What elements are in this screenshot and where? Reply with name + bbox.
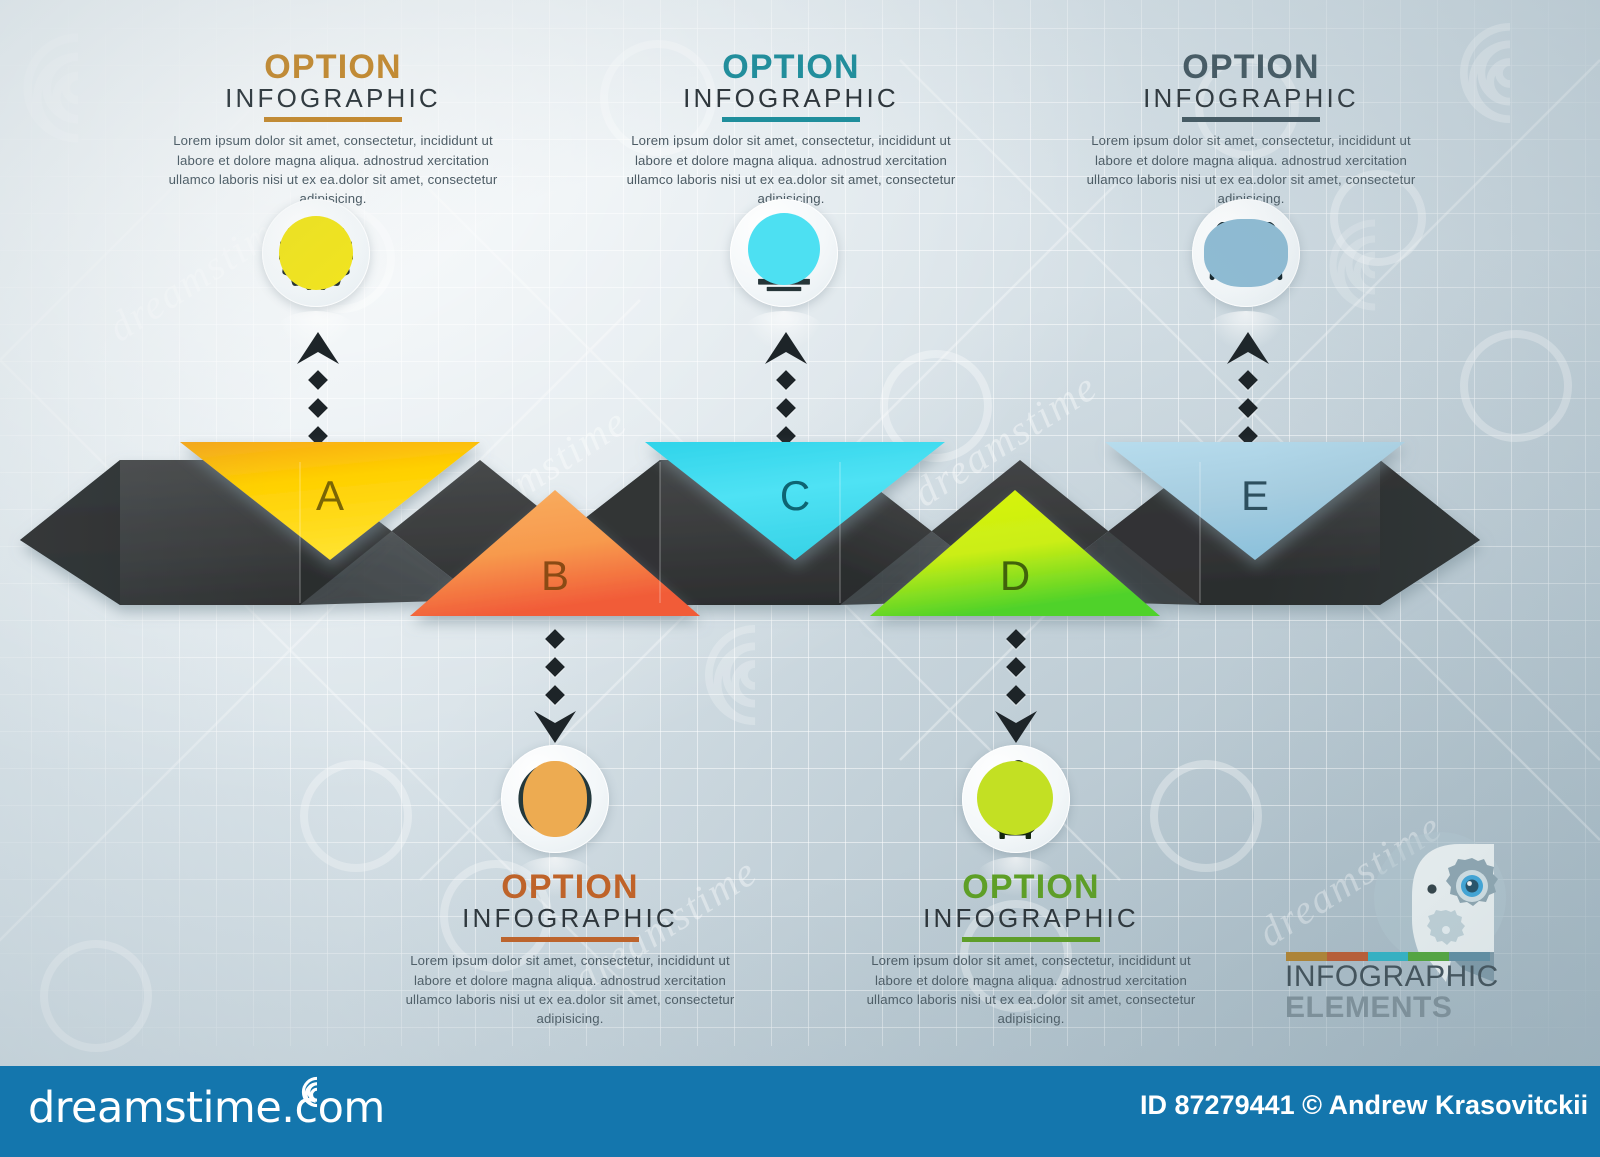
- option-title-b: OPTION: [405, 870, 735, 905]
- connector-dot: [1006, 629, 1026, 649]
- option-text-c: OPTION INFOGRAPHIC Lorem ipsum dolor sit…: [626, 50, 956, 209]
- icon-badge-a[interactable]: [262, 199, 370, 307]
- connector-b: [533, 625, 577, 745]
- arrow-up-icon: [764, 330, 808, 366]
- connector-dot: [776, 370, 796, 390]
- brand-logo: INFOGRAPHIC ELEMENTS: [1278, 826, 1510, 1026]
- image-credit: ID 87279441 © Andrew Krasovitckii: [1140, 1090, 1588, 1121]
- option-body-b: Lorem ipsum dolor sit amet, consectetur,…: [405, 951, 735, 1029]
- connector-d: [994, 625, 1038, 745]
- option-body-e: Lorem ipsum dolor sit amet, consectetur,…: [1086, 131, 1416, 209]
- arrow-down-icon: [533, 709, 577, 745]
- option-text-e: OPTION INFOGRAPHIC Lorem ipsum dolor sit…: [1086, 50, 1416, 209]
- option-text-d: OPTION INFOGRAPHIC Lorem ipsum dolor sit…: [866, 870, 1196, 1029]
- option-title-c: OPTION: [626, 50, 956, 85]
- option-body-a: Lorem ipsum dolor sit amet, consectetur,…: [168, 131, 498, 209]
- option-rule-e: [1182, 117, 1320, 122]
- ribbon-letter-a: A: [316, 472, 344, 519]
- ribbon-letter-b: B: [541, 552, 569, 599]
- option-body-c: Lorem ipsum dolor sit amet, consectetur,…: [626, 131, 956, 209]
- connector-dot: [545, 685, 565, 705]
- logo-line-2: ELEMENTS: [1285, 992, 1510, 1023]
- arrow-down-icon: [994, 709, 1038, 745]
- option-rule-b: [501, 937, 639, 942]
- option-title-e: OPTION: [1086, 50, 1416, 85]
- connector-dot: [308, 370, 328, 390]
- option-text-a: OPTION INFOGRAPHIC Lorem ipsum dolor sit…: [168, 50, 498, 209]
- option-text-b: OPTION INFOGRAPHIC Lorem ipsum dolor sit…: [405, 870, 735, 1029]
- option-subtitle-a: INFOGRAPHIC: [168, 85, 498, 113]
- connector-dot: [545, 657, 565, 677]
- icon-badge-e[interactable]: [1192, 199, 1300, 307]
- connector-dot: [1006, 685, 1026, 705]
- icon-badge-d[interactable]: [962, 745, 1070, 853]
- zigzag-ribbon: A B C D E: [0, 400, 1600, 660]
- option-title-d: OPTION: [866, 870, 1196, 905]
- option-body-d: Lorem ipsum dolor sit amet, consectetur,…: [866, 951, 1196, 1029]
- connector-dot: [1238, 370, 1258, 390]
- option-rule-c: [722, 117, 860, 122]
- connector-dot: [545, 629, 565, 649]
- arrow-up-icon: [296, 330, 340, 366]
- option-subtitle-b: INFOGRAPHIC: [405, 905, 735, 933]
- option-subtitle-d: INFOGRAPHIC: [866, 905, 1196, 933]
- ribbon-letter-e: E: [1241, 472, 1269, 519]
- arrow-up-icon: [1226, 330, 1270, 366]
- connector-dot: [1006, 657, 1026, 677]
- ribbon-letter-d: D: [1000, 552, 1030, 599]
- ribbon-letter-c: C: [780, 472, 810, 519]
- option-rule-a: [264, 117, 402, 122]
- icon-badge-c[interactable]: [730, 199, 838, 307]
- option-subtitle-c: INFOGRAPHIC: [626, 85, 956, 113]
- logo-line-1: INFOGRAPHIC: [1285, 961, 1510, 992]
- option-title-a: OPTION: [168, 50, 498, 85]
- option-subtitle-e: INFOGRAPHIC: [1086, 85, 1416, 113]
- icon-badge-b[interactable]: [501, 745, 609, 853]
- site-logo-spiral-icon: [300, 1075, 334, 1109]
- option-rule-d: [962, 937, 1100, 942]
